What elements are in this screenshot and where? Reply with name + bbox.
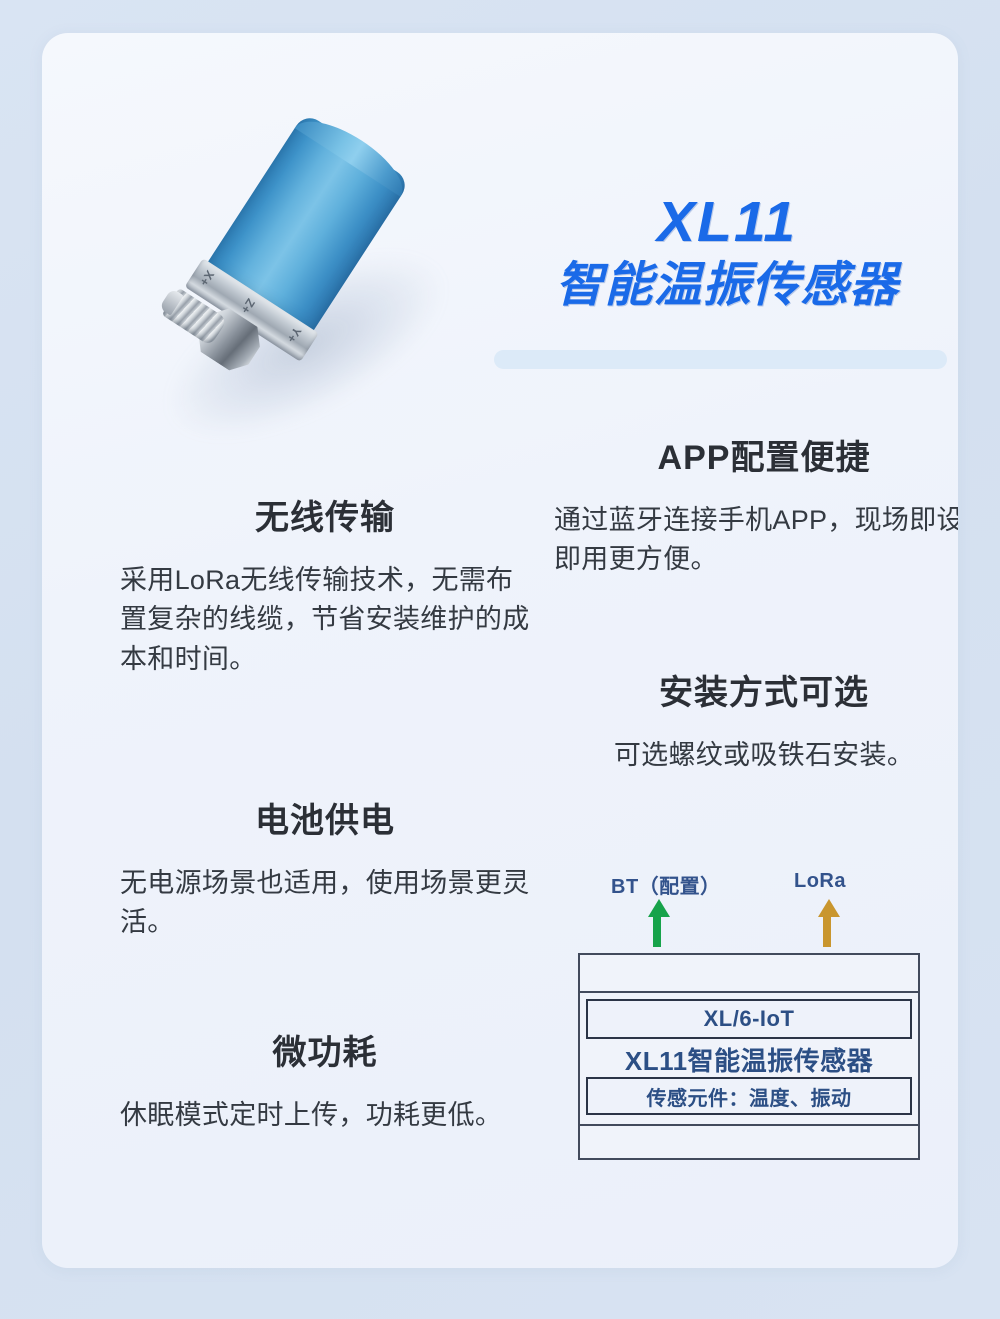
axis-label-x: X+ — [196, 268, 216, 289]
feature-mounting: 安装方式可选 可选螺纹或吸铁石安装。 — [554, 673, 958, 775]
sensor-illustration: X+ Z+ Y+ — [69, 55, 509, 486]
feature-battery-body: 无电源场景也适用，使用场景更灵活。 — [120, 864, 530, 943]
product-model-title: XL11 — [492, 193, 958, 253]
diagram-sensing-element-box: 传感元件：温度、振动 — [586, 1077, 912, 1115]
feature-wireless-body: 采用LoRa无线传输技术，无需布置复杂的线缆，节省安装维护的成本和时间。 — [120, 561, 530, 679]
diagram-bt-label: BT（配置） — [611, 870, 721, 899]
feature-mounting-heading: 安装方式可选 — [554, 673, 958, 714]
diagram-iot-module-box: XL/6-IoT — [586, 999, 912, 1039]
axis-label-z: Z+ — [238, 296, 258, 316]
feature-app-config: APP配置便捷 通过蓝牙连接手机APP，现场即设即用更方便。 — [554, 438, 958, 580]
feature-low-power-heading: 微功耗 — [120, 1033, 530, 1074]
feature-wireless: 无线传输 采用LoRa无线传输技术，无需布置复杂的线缆，节省安装维护的成本和时间… — [120, 498, 530, 679]
feature-wireless-heading: 无线传输 — [120, 498, 530, 539]
feature-battery: 电池供电 无电源场景也适用，使用场景更灵活。 — [120, 801, 530, 943]
bt-arrow-shaft-outer — [653, 915, 661, 947]
title-underline-bar — [494, 350, 947, 369]
feature-app-body: 通过蓝牙连接手机APP，现场即设即用更方便。 — [554, 501, 958, 580]
diagram-bottom-divider — [578, 1124, 920, 1126]
feature-battery-heading: 电池供电 — [120, 801, 530, 842]
feature-app-heading: APP配置便捷 — [554, 438, 958, 479]
diagram-top-divider — [578, 991, 920, 993]
product-photo: X+ Z+ Y+ — [104, 111, 504, 441]
feature-mounting-body: 可选螺纹或吸铁石安装。 — [554, 736, 958, 775]
diagram-device-title: XL11智能温振传感器 — [586, 1041, 912, 1077]
axis-label-y: Y+ — [284, 324, 304, 345]
product-card: X+ Z+ Y+ XL11 智能温振传感器 无线传输 采用LoRa无线传输技术，… — [42, 33, 958, 1268]
diagram-lora-label: LoRa — [794, 870, 846, 893]
product-name-title: 智能温振传感器 — [492, 257, 958, 316]
title-block: XL11 智能温振传感器 — [492, 193, 958, 315]
feature-low-power: 微功耗 休眠模式定时上传，功耗更低。 — [120, 1033, 530, 1135]
architecture-diagram: BT（配置） LoRa XL/6-IoT XL11智能温振传感器 传感元件：温度… — [562, 865, 958, 1165]
feature-low-power-body: 休眠模式定时上传，功耗更低。 — [120, 1096, 530, 1135]
lora-arrow-shaft-outer — [823, 915, 831, 947]
